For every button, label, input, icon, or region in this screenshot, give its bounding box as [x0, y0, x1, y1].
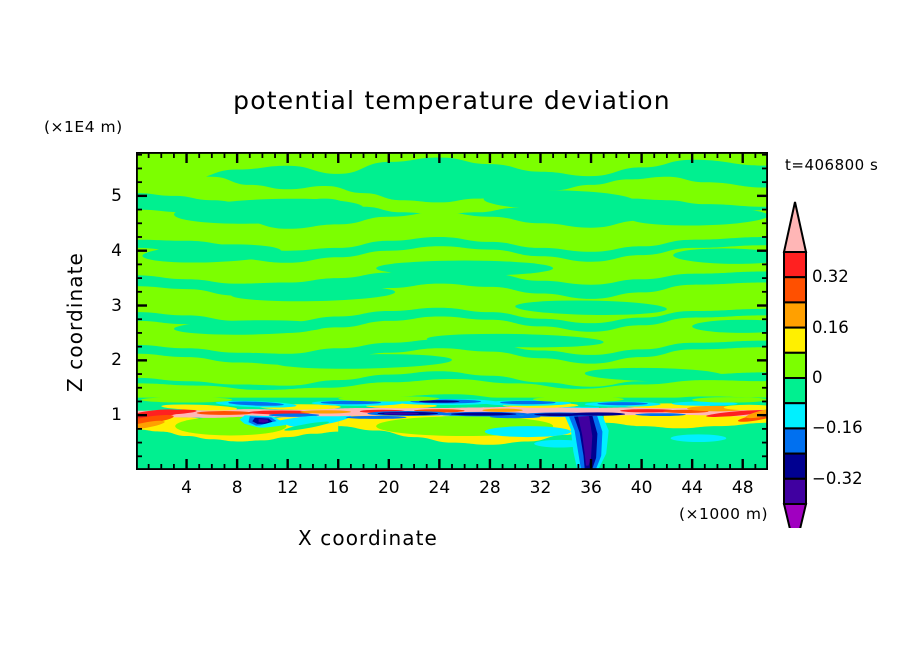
timestamp-annotation: t=406800 s — [785, 156, 878, 174]
colorbar-tick-label: 0 — [812, 368, 823, 387]
x-axis-unit-label: (×1000 m) — [679, 505, 768, 523]
colorbar-band — [784, 328, 806, 353]
hot-core-10 — [482, 409, 522, 412]
streak-2 — [490, 415, 541, 418]
x-tick-label: 16 — [318, 478, 358, 498]
y-tick-label: 2 — [96, 350, 122, 370]
cold-billow-2-core — [321, 401, 382, 404]
scatter-1 — [141, 397, 232, 402]
colorbar-band — [784, 403, 806, 428]
colorbar-band — [784, 353, 806, 378]
colorbar-cap-top — [784, 202, 806, 252]
y-tick-label: 3 — [96, 296, 122, 316]
y-axis-title: Z coordinate — [63, 222, 87, 422]
x-tick-label: 40 — [622, 478, 662, 498]
colorbar-tick-label: −0.16 — [812, 418, 863, 437]
streak-1 — [346, 416, 407, 419]
colorbar-tick-label: 0.32 — [812, 267, 849, 286]
scatter-2 — [338, 396, 439, 401]
x-tick-label: 28 — [470, 478, 510, 498]
x-tick-label: 32 — [520, 478, 560, 498]
figure-canvas: potential temperature deviation (×1E4 m)… — [0, 0, 904, 654]
colorbar-band — [784, 378, 806, 403]
x-tick-label: 8 — [217, 478, 257, 498]
colorbar-band — [784, 277, 806, 302]
y-tick-label: 4 — [96, 241, 122, 261]
hot-core-5 — [197, 411, 253, 415]
colorbar-cap-bottom — [784, 504, 806, 528]
cold-pocket-2 — [485, 426, 571, 437]
scatter-3 — [533, 397, 624, 402]
colorbar — [779, 198, 813, 528]
wave-void-5 — [376, 261, 553, 276]
y-tick-label: 1 — [96, 405, 122, 425]
cold-billow-5-core — [597, 402, 648, 405]
colorbar-tick-label: −0.32 — [812, 469, 863, 488]
y-axis-unit-label: (×1E4 m) — [44, 118, 123, 136]
hot-core-7 — [300, 410, 351, 413]
colorbar-band — [784, 252, 806, 277]
colorbar-bands — [784, 202, 806, 528]
contour-plot — [136, 152, 768, 470]
x-tick-label: 48 — [723, 478, 763, 498]
deep-cold-2-core — [451, 413, 517, 416]
colorbar-band — [784, 302, 806, 327]
cold-billow-4-core — [500, 401, 556, 404]
cold-pocket-4 — [671, 434, 727, 442]
deep-cold-6 — [635, 413, 686, 416]
deep-cold-1-center — [384, 412, 419, 414]
x-tick-label: 44 — [672, 478, 712, 498]
x-axis-title: X coordinate — [0, 526, 736, 550]
page-title: potential temperature deviation — [0, 86, 904, 115]
x-tick-label: 12 — [268, 478, 308, 498]
x-tick-label: 24 — [419, 478, 459, 498]
y-tick-label: 5 — [96, 186, 122, 206]
x-tick-label: 4 — [167, 478, 207, 498]
x-tick-label: 36 — [571, 478, 611, 498]
scatter-4 — [692, 397, 768, 402]
colorbar-band — [784, 479, 806, 504]
colorbar-tick-label: 0.16 — [812, 318, 849, 337]
deep-cold-5 — [570, 412, 626, 415]
x-tick-label: 20 — [369, 478, 409, 498]
colorbar-band — [784, 428, 806, 453]
colorbar-band — [784, 454, 806, 479]
field-layers — [136, 152, 768, 470]
